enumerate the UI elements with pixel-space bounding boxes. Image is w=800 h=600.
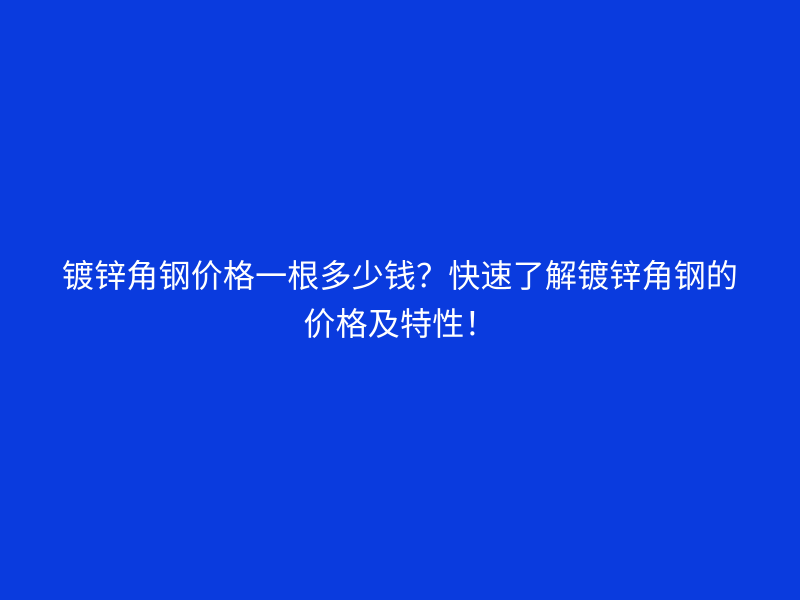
page-title: 镀锌角钢价格一根多少钱？快速了解镀锌角钢的价格及特性！ [55,252,745,348]
title-card: 镀锌角钢价格一根多少钱？快速了解镀锌角钢的价格及特性！ [0,0,800,600]
headline-block: 镀锌角钢价格一根多少钱？快速了解镀锌角钢的价格及特性！ [55,252,745,348]
